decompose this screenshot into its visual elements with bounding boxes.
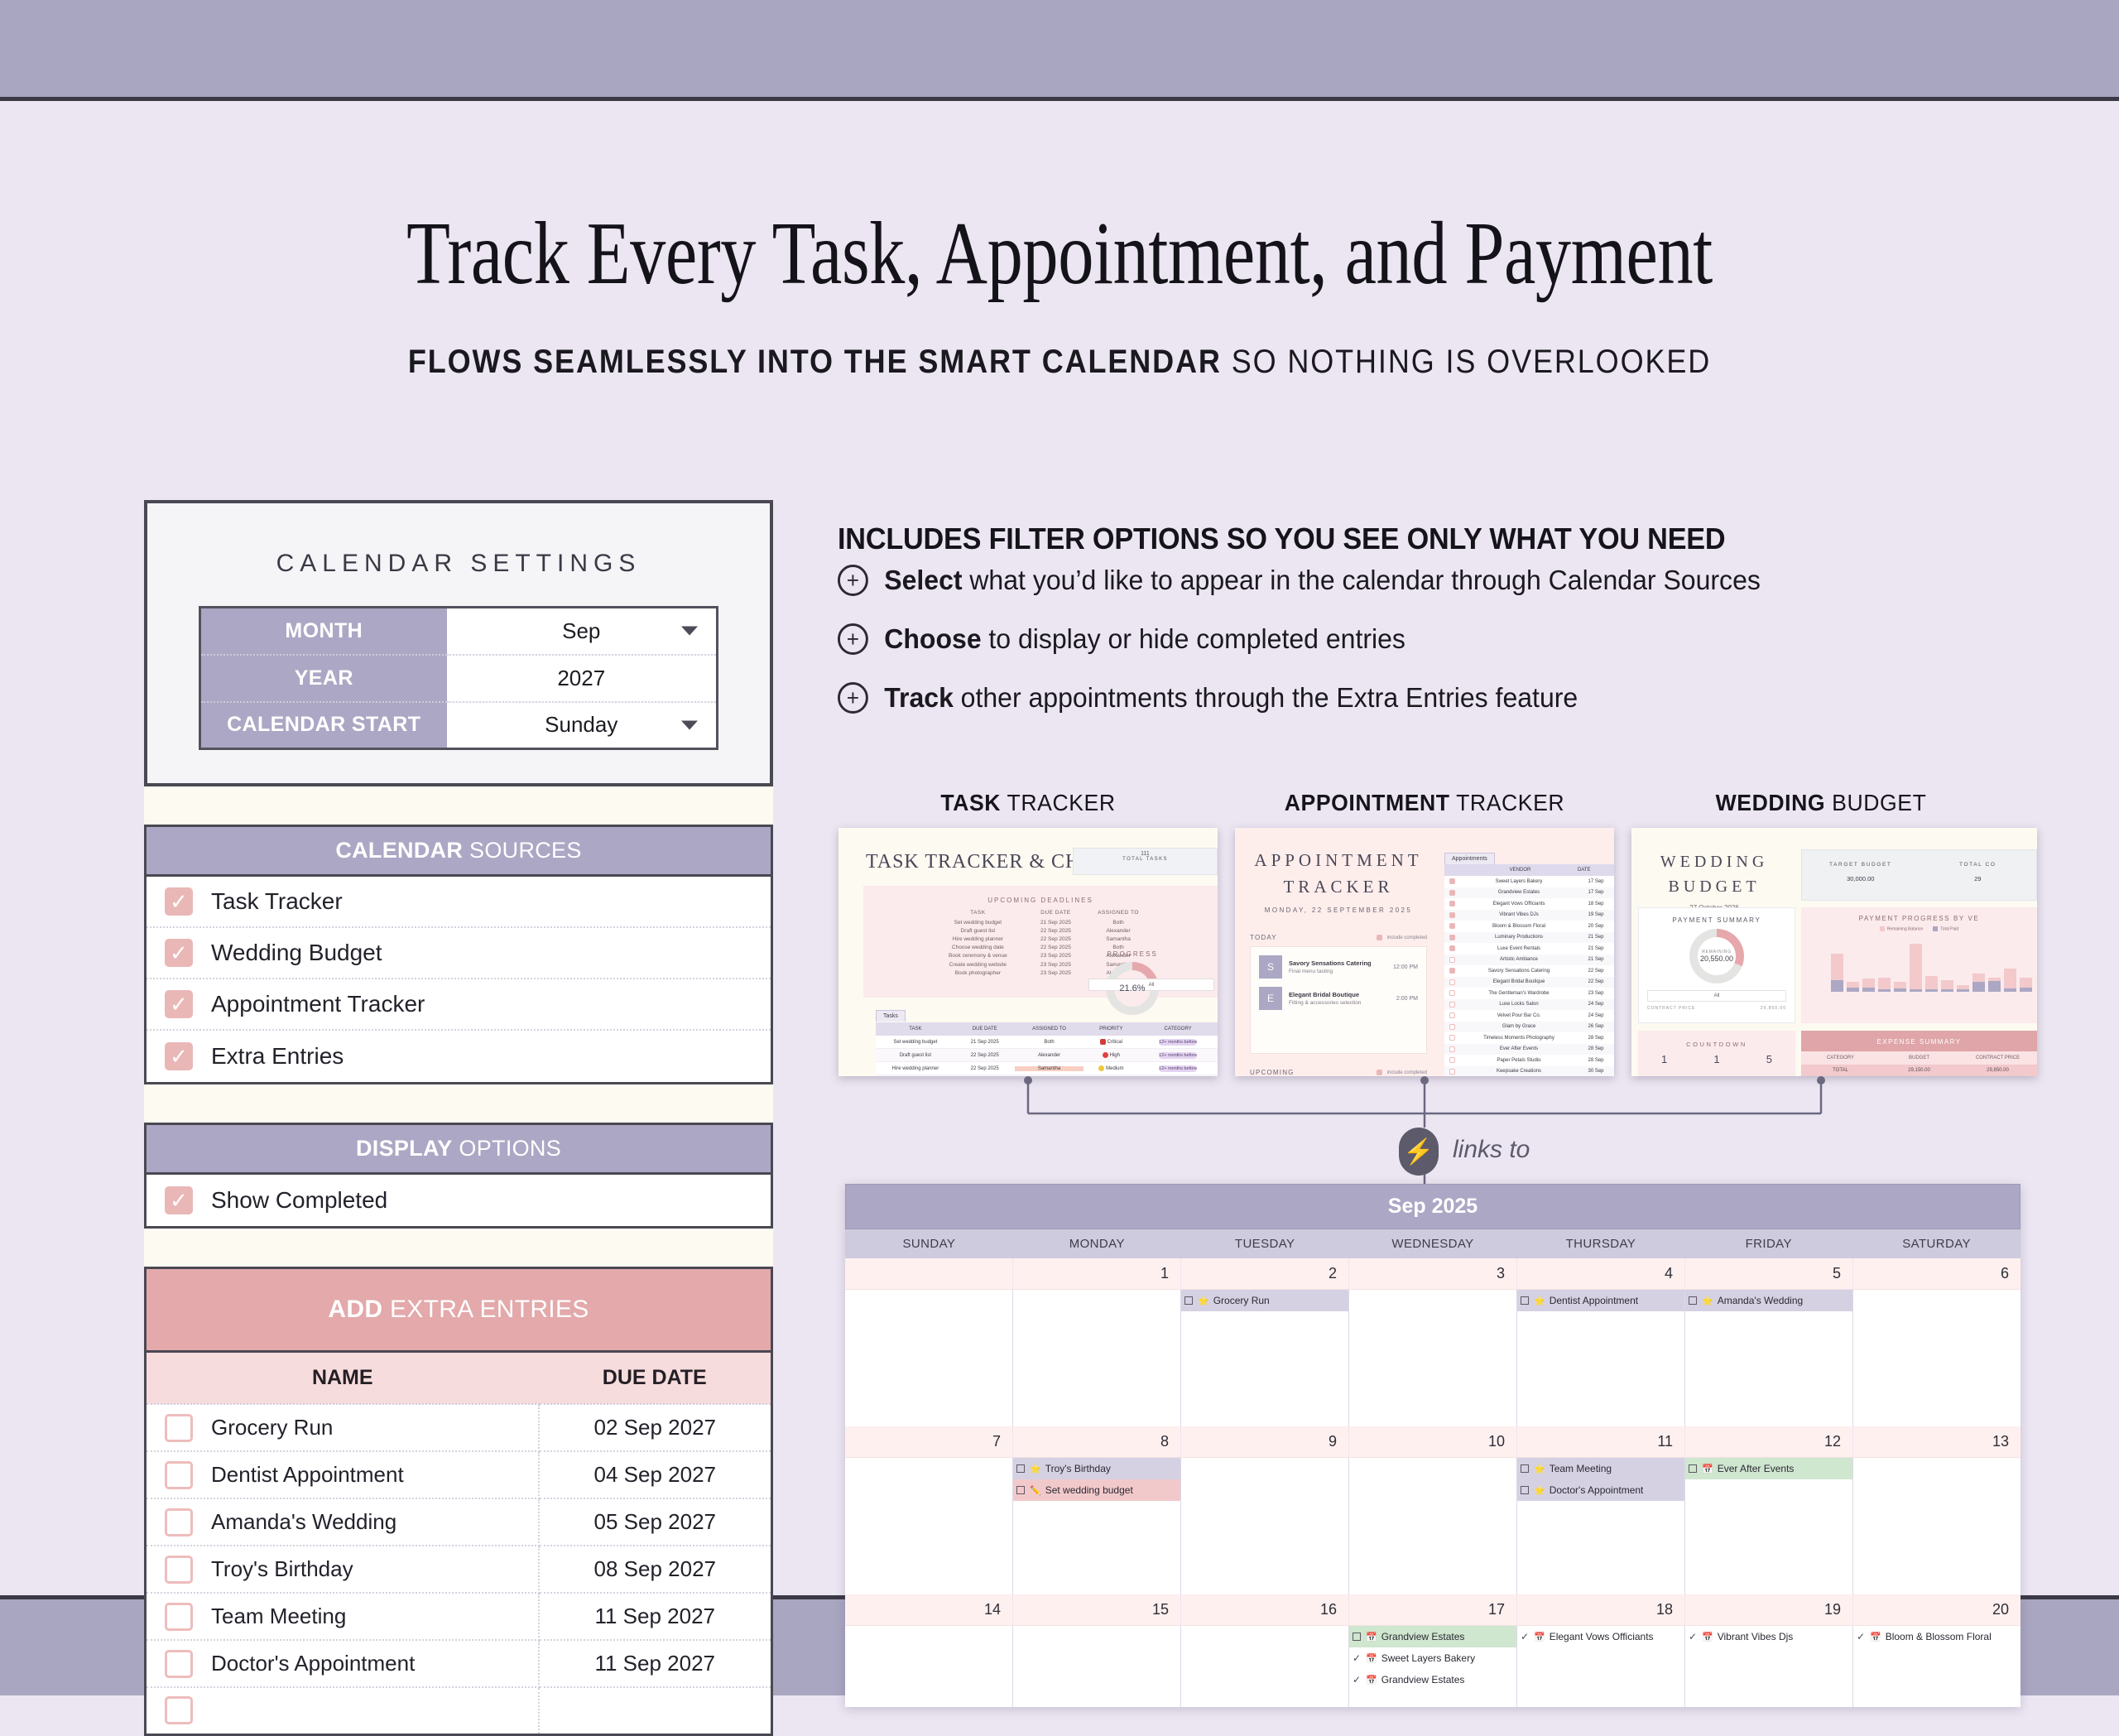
check-mark-icon[interactable]: ✓ bbox=[1857, 1631, 1865, 1642]
checkbox-checked-icon[interactable]: ✓ bbox=[165, 1042, 193, 1070]
task-row[interactable]: Hire wedding planner 22 Sep 2025 Samanth… bbox=[876, 1062, 1218, 1075]
tasks-grid: TASK DUE DATE ASSIGNED TO PRIORITY CATEG… bbox=[876, 1022, 1218, 1076]
chevron-down-icon[interactable] bbox=[681, 720, 698, 729]
contract-price-row: CONTRACT PRICE 29,850.00 bbox=[1647, 1006, 1786, 1011]
settings-value-year[interactable]: 2027 bbox=[447, 655, 718, 702]
calendar-week-body: 📅Grandview Estates✓📅Sweet Layers Bakery✓… bbox=[845, 1626, 2020, 1707]
checkbox-checked-icon[interactable] bbox=[1449, 912, 1455, 918]
source-label: Task Tracker bbox=[211, 888, 343, 915]
appointment-date: 20 Sep bbox=[1578, 924, 1614, 929]
calendar-settings-table: MONTH Sep YEAR 2027 CALENDAR START Sunda… bbox=[199, 606, 718, 750]
vendor-name: Ever After Events bbox=[1460, 1046, 1578, 1051]
chart-legend: Remaining Balance Total Paid bbox=[1801, 926, 2037, 931]
plus-circle-icon: + bbox=[838, 682, 868, 714]
panel-spacer bbox=[144, 1084, 773, 1123]
countdown-values: 1 1 5 bbox=[1638, 1053, 1795, 1065]
star-icon: ⭐ bbox=[1534, 1464, 1545, 1474]
cal2-icon: 📅 bbox=[1702, 1632, 1713, 1642]
source-item-task-tracker[interactable]: ✓ Task Tracker bbox=[147, 877, 771, 928]
calendar-event[interactable]: ⭐Troy's Birthday bbox=[1013, 1458, 1180, 1479]
vendor-name: The Gentleman's Wardrobe bbox=[1460, 991, 1578, 996]
calendar-date-number: 9 bbox=[1181, 1426, 1349, 1457]
entry-due-date[interactable] bbox=[539, 1687, 772, 1734]
calendar-event[interactable]: 📅Grandview Estates bbox=[1349, 1626, 1516, 1647]
day-header-saturday: SATURDAY bbox=[1852, 1229, 2020, 1258]
appointment-time: 12:00 PM bbox=[1393, 964, 1418, 970]
contract-price-label: CONTRACT PRICE bbox=[1647, 1006, 1695, 1011]
checkbox-unchecked-icon[interactable] bbox=[1449, 1012, 1455, 1018]
payment-donut-chart: REMAINING 20,550.00 bbox=[1689, 929, 1744, 983]
appointment-desc: Fitting & accessories selection bbox=[1289, 1000, 1361, 1006]
preview-label-task-tracker: TASK TRACKER bbox=[848, 790, 1208, 816]
calendar-day-cell[interactable]: ✓📅Elegant Vows Officiants bbox=[1517, 1626, 1685, 1707]
col-priority: PRIORITY bbox=[1084, 1027, 1138, 1032]
checkbox-checked-icon[interactable]: ✓ bbox=[165, 939, 193, 967]
vendor-name: Grandview Estates bbox=[1460, 890, 1578, 895]
upcoming-label: UPCOMING bbox=[1250, 1069, 1295, 1076]
calendar-date-number: 5 bbox=[1685, 1258, 1853, 1289]
col-category: CATEGORY bbox=[1138, 1027, 1218, 1032]
kpi-label: TOTAL TASKS bbox=[1074, 857, 1217, 862]
deadline-row: Draft guest list22 Sep 2025Alexander bbox=[927, 926, 1155, 935]
calendar-day-cell[interactable]: ⭐Troy's Birthday✏️Set wedding budget bbox=[1013, 1458, 1181, 1594]
appointment-grid-row[interactable]: Grandview Estates17 Sep bbox=[1444, 887, 1614, 899]
day-header-friday: FRIDAY bbox=[1684, 1229, 1852, 1258]
checkbox-checked-icon[interactable] bbox=[1449, 878, 1455, 884]
appointments-sheet-tab[interactable]: Appointments bbox=[1444, 853, 1495, 864]
calendar-day-cell[interactable]: 📅Ever After Events bbox=[1685, 1458, 1853, 1594]
checkbox-unchecked-icon[interactable] bbox=[1521, 1486, 1529, 1494]
appointment-grid-row[interactable]: Bloom & Blossom Floral20 Sep bbox=[1444, 921, 1614, 932]
checkbox-unchecked-icon[interactable] bbox=[165, 1414, 193, 1442]
appointment-grid-row[interactable]: Vibrant Vibes DJs19 Sep bbox=[1444, 910, 1614, 921]
appointment-date: 22 Sep bbox=[1578, 979, 1614, 984]
source-item-extra-entries[interactable]: ✓ Extra Entries bbox=[147, 1031, 771, 1082]
appointment-date: 28 Sep bbox=[1578, 1036, 1614, 1041]
calendar-event[interactable]: ✓📅Elegant Vows Officiants bbox=[1517, 1626, 1684, 1647]
calendar-date-number: 4 bbox=[1517, 1258, 1685, 1289]
checkbox-unchecked-icon[interactable] bbox=[1184, 1296, 1193, 1305]
appointment-date: 17 Sep bbox=[1578, 890, 1614, 895]
calendar-day-cell[interactable]: ✓📅Bloom & Blossom Floral bbox=[1853, 1626, 2020, 1707]
entry-due-date[interactable]: 11 Sep 2027 bbox=[539, 1640, 772, 1687]
calendar-date-number: 8 bbox=[1013, 1426, 1181, 1457]
checkbox-unchecked-icon[interactable] bbox=[1449, 1002, 1455, 1007]
countdown-digit: 5 bbox=[1766, 1053, 1772, 1065]
checkbox-unchecked-icon[interactable] bbox=[165, 1556, 193, 1584]
check-mark-icon[interactable]: ✓ bbox=[1353, 1674, 1361, 1686]
vendor-name: Velvet Pour Bar Co. bbox=[1460, 1013, 1578, 1018]
appointment-tracker-date: MONDAY, 22 SEPTEMBER 2025 bbox=[1235, 906, 1442, 914]
day-header-sunday: SUNDAY bbox=[845, 1229, 1013, 1258]
calendar-month-label: Sep 2025 bbox=[845, 1184, 2020, 1229]
appointment-date: 21 Sep bbox=[1578, 957, 1614, 962]
calendar-day-headers: SUNDAY MONDAY TUESDAY WEDNESDAY THURSDAY… bbox=[845, 1229, 2020, 1258]
calendar-day-cell[interactable]: ✓📅Vibrant Vibes Djs bbox=[1685, 1626, 1853, 1707]
appointment-date: 28 Sep bbox=[1578, 1046, 1614, 1051]
entry-due-date[interactable]: 05 Sep 2027 bbox=[539, 1498, 772, 1546]
calendar-event-label: Grandview Estates bbox=[1381, 1631, 1465, 1642]
vendor-name: Artistic Ambiance bbox=[1460, 957, 1578, 962]
expense-summary-title: EXPENSE SUMMARY bbox=[1801, 1031, 2037, 1046]
calendar-event-label: Vibrant Vibes Djs bbox=[1718, 1631, 1794, 1642]
star-icon: ⭐ bbox=[1702, 1296, 1713, 1306]
countdown-digit: 1 bbox=[1713, 1053, 1719, 1065]
bullet-lead: Select bbox=[884, 565, 962, 596]
calendar-settings-title: CALENDAR SETTINGS bbox=[147, 531, 770, 606]
display-options-header: DISPLAY OPTIONS bbox=[144, 1123, 773, 1175]
preview-card-wedding-budget[interactable]: WEDDING BUDGET 27 October 2026 TARGET BU… bbox=[1631, 828, 2037, 1076]
appointment-date: 22 Sep bbox=[1578, 969, 1614, 974]
calendar-date-number: 1 bbox=[1013, 1258, 1181, 1289]
calendar-week-body: ⭐Troy's Birthday✏️Set wedding budget⭐Tea… bbox=[845, 1458, 2020, 1594]
checkbox-unchecked-icon[interactable] bbox=[1449, 1024, 1455, 1030]
calendar-week: 123456⭐Grocery Run⭐Dentist Appointment⭐A… bbox=[845, 1258, 2020, 1426]
cal-icon: 📅 bbox=[1702, 1464, 1713, 1474]
month-select-value: Sep bbox=[562, 618, 600, 643]
label-light: BUDGET bbox=[1825, 790, 1926, 815]
calendar-event-label: Amanda's Wedding bbox=[1718, 1295, 1803, 1306]
display-option-label: Show Completed bbox=[211, 1187, 387, 1214]
col-contract-price: CONTRACT PRICE bbox=[1958, 1056, 2037, 1060]
calendar-event[interactable]: ⭐Dentist Appointment bbox=[1517, 1290, 1684, 1311]
chart-title: PAYMENT PROGRESS BY VE bbox=[1801, 915, 2037, 922]
appointment-grid-row[interactable]: Luxe Locks Salon24 Sep bbox=[1444, 999, 1614, 1011]
checkbox-checked-icon[interactable] bbox=[1449, 945, 1455, 951]
calendar-week: 78910111213⭐Troy's Birthday✏️Set wedding… bbox=[845, 1426, 2020, 1594]
calendar-day-cell[interactable] bbox=[845, 1290, 1013, 1426]
appointment-grid-row[interactable]: Velvet Pour Bar Co.24 Sep bbox=[1444, 1010, 1614, 1022]
progress-label: PROGRESS bbox=[1070, 950, 1194, 958]
display-option-show-completed[interactable]: ✓ Show Completed bbox=[147, 1175, 771, 1226]
tasks-sheet-tab[interactable]: Tasks bbox=[876, 1010, 906, 1022]
checkbox-unchecked-icon[interactable] bbox=[1689, 1464, 1697, 1473]
calendar-event[interactable]: 📅Ever After Events bbox=[1685, 1458, 1852, 1479]
check-mark-icon[interactable]: ✓ bbox=[1521, 1631, 1529, 1642]
entry-due-date[interactable]: 11 Sep 2027 bbox=[539, 1593, 772, 1640]
page-title: Track Every Task, Appointment, and Payme… bbox=[212, 207, 1907, 301]
appointment-item[interactable]: S Savory Sensations Catering Final menu … bbox=[1259, 955, 1418, 979]
calendar-event-label: Elegant Vows Officiants bbox=[1550, 1631, 1654, 1642]
appointments-grid: Appointments VENDOR DATE Sweet Layers Ba… bbox=[1444, 849, 1614, 1076]
entry-name: Grocery Run bbox=[211, 1415, 333, 1440]
vendor-name: Paper Petals Studio bbox=[1460, 1058, 1578, 1063]
calendar-event-label: Dentist Appointment bbox=[1550, 1295, 1638, 1306]
calendar-day-cell[interactable] bbox=[845, 1626, 1013, 1707]
checkbox-unchecked-icon[interactable] bbox=[165, 1696, 193, 1724]
calendar-event-label: Set wedding budget bbox=[1045, 1484, 1133, 1496]
vendor-name: Sweet Layers Bakery bbox=[1460, 879, 1578, 884]
table-row: Dentist Appointment 04 Sep 2027 bbox=[146, 1451, 772, 1498]
table-row: Amanda's Wedding 05 Sep 2027 bbox=[146, 1498, 772, 1546]
calendar-event[interactable]: ✓📅Grandview Estates bbox=[1349, 1669, 1516, 1690]
appointment-date: 19 Sep bbox=[1578, 912, 1614, 917]
calendar-day-cell[interactable] bbox=[1349, 1458, 1517, 1594]
settings-sidebar: CALENDAR SETTINGS MONTH Sep YEAR 2027 CA… bbox=[144, 500, 773, 1736]
vendor-name: Vibrant Vibes DJs bbox=[1460, 912, 1578, 917]
links-to-label: links to bbox=[1453, 1136, 1530, 1164]
filters-heading: INCLUDES FILTER OPTIONS SO YOU SEE ONLY … bbox=[838, 522, 1725, 556]
settings-label-month: MONTH bbox=[200, 608, 447, 655]
check-mark-icon[interactable]: ✓ bbox=[1689, 1631, 1697, 1642]
calendar-date-number: 14 bbox=[845, 1594, 1013, 1625]
calendar-date-number: 6 bbox=[1853, 1258, 2020, 1289]
expense-columns: CATEGORY BUDGET CONTRACT PRICE bbox=[1801, 1051, 2037, 1065]
appointment-grid-row[interactable]: Ever After Events28 Sep bbox=[1444, 1044, 1614, 1056]
calendar-day-cell[interactable] bbox=[1349, 1290, 1517, 1426]
calendar-week: 14151617181920📅Grandview Estates✓📅Sweet … bbox=[845, 1594, 2020, 1707]
calendar-date-number: 7 bbox=[845, 1426, 1013, 1457]
calendar-day-cell[interactable]: ⭐Amanda's Wedding bbox=[1685, 1290, 1853, 1426]
calendar-day-cell[interactable] bbox=[845, 1458, 1013, 1594]
countdown-card: COUNTDOWN 1 1 5 bbox=[1638, 1031, 1795, 1076]
col-task: TASK bbox=[876, 1027, 955, 1032]
panel-spacer bbox=[144, 786, 773, 825]
appointment-grid-row[interactable]: Sweet Layers Bakery17 Sep bbox=[1444, 876, 1614, 887]
day-header-thursday: THURSDAY bbox=[1516, 1229, 1684, 1258]
appointment-grid-row[interactable]: Savory Sensations Catering22 Sep bbox=[1444, 965, 1614, 977]
appointment-date: 18 Sep bbox=[1578, 902, 1614, 906]
checkbox-unchecked-icon[interactable] bbox=[1449, 990, 1455, 996]
checkbox-unchecked-icon[interactable] bbox=[1521, 1464, 1529, 1473]
calendar-start-select-value: Sunday bbox=[545, 712, 617, 737]
calendar-day-cell[interactable]: 📅Grandview Estates✓📅Sweet Layers Bakery✓… bbox=[1349, 1626, 1517, 1707]
calendar-date-number: 13 bbox=[1853, 1426, 2020, 1457]
calendar-event-label: Troy's Birthday bbox=[1045, 1463, 1111, 1474]
appointment-name: Savory Sensations Catering bbox=[1289, 959, 1372, 967]
checkbox-unchecked-icon[interactable] bbox=[1689, 1296, 1697, 1305]
calendar-event-label: Sweet Layers Bakery bbox=[1381, 1652, 1475, 1664]
checkbox-checked-icon[interactable] bbox=[1449, 935, 1455, 940]
checkbox-checked-icon[interactable] bbox=[1449, 890, 1455, 896]
calendar-date-number bbox=[845, 1258, 1013, 1289]
calendar-event[interactable]: ⭐Doctor's Appointment bbox=[1517, 1479, 1684, 1501]
appointment-grid-row[interactable]: Keepsake Creations30 Sep bbox=[1444, 1066, 1614, 1077]
subtitle-bold: FLOWS SEAMLESSLY INTO THE SMART CALENDAR bbox=[408, 344, 1222, 380]
calendar-event-label: Grandview Estates bbox=[1381, 1674, 1465, 1686]
checkbox-unchecked-icon[interactable] bbox=[1449, 1057, 1455, 1063]
checkbox-unchecked-icon[interactable] bbox=[1449, 1046, 1455, 1052]
calendar-date-number: 19 bbox=[1685, 1594, 1853, 1625]
calendar-date-row: 123456 bbox=[845, 1258, 2020, 1290]
preview-label-appointment-tracker: APPOINTMENT TRACKER bbox=[1244, 790, 1604, 816]
bullet-lead: Choose bbox=[884, 623, 981, 655]
chevron-down-icon[interactable] bbox=[681, 627, 698, 636]
display-options-list: ✓ Show Completed bbox=[144, 1175, 773, 1229]
label-bold: APPOINTMENT bbox=[1285, 790, 1450, 815]
include-completed-checkbox[interactable] bbox=[1377, 935, 1382, 940]
calendar-day-cell[interactable] bbox=[1853, 1458, 2020, 1594]
deadline-row: Set wedding budget21 Sep 2025Both bbox=[927, 918, 1155, 926]
deadlines-title: UPCOMING DEADLINES bbox=[863, 897, 1218, 904]
checkbox-unchecked-icon[interactable] bbox=[165, 1603, 193, 1631]
calendar-week-body: ⭐Grocery Run⭐Dentist Appointment⭐Amanda'… bbox=[845, 1290, 2020, 1426]
monthly-calendar: Sep 2025 SUNDAY MONDAY TUESDAY WEDNESDAY… bbox=[845, 1184, 2020, 1707]
calendar-day-cell[interactable]: ⭐Grocery Run bbox=[1181, 1290, 1349, 1426]
calendar-event[interactable]: ⭐Amanda's Wedding bbox=[1685, 1290, 1852, 1311]
include-completed-label: include completed bbox=[1387, 1070, 1427, 1075]
link-bolt-icon: ⚡ bbox=[1399, 1128, 1439, 1176]
checkbox-unchecked-icon[interactable] bbox=[1521, 1296, 1529, 1305]
calendar-event[interactable]: ✓📅Bloom & Blossom Floral bbox=[1853, 1626, 2020, 1647]
plus-circle-icon: + bbox=[838, 623, 868, 655]
entry-name: Troy's Birthday bbox=[211, 1556, 353, 1582]
preview-card-task-tracker[interactable]: TASK TRACKER & CHECKLIST 111 TOTAL TASKS… bbox=[838, 828, 1218, 1076]
calendar-day-cell[interactable]: ⭐Dentist Appointment bbox=[1517, 1290, 1685, 1426]
label-light: TRACKER bbox=[1450, 790, 1565, 815]
extra-entries-table: NAME DUE DATE Grocery Run 02 Sep 2027 De… bbox=[144, 1353, 773, 1736]
calendar-day-cell[interactable] bbox=[1013, 1626, 1181, 1707]
budget-kpi-row: TARGET BUDGET 30,000.00 TOTAL CO 29 bbox=[1801, 849, 2037, 901]
checkbox-unchecked-icon[interactable] bbox=[1449, 957, 1455, 963]
countdown-digit: 1 bbox=[1661, 1053, 1667, 1065]
checkbox-unchecked-icon[interactable] bbox=[1016, 1464, 1025, 1473]
extra-entries-header-row: NAME DUE DATE bbox=[146, 1353, 772, 1404]
appointment-grid-row[interactable]: Timeless Moments Photography28 Sep bbox=[1444, 1032, 1614, 1044]
cal-icon: 📅 bbox=[1366, 1632, 1377, 1642]
col-task: TASK bbox=[927, 910, 1030, 918]
checkbox-unchecked-icon[interactable] bbox=[1353, 1633, 1361, 1641]
calendar-event-label: Grocery Run bbox=[1213, 1295, 1270, 1306]
calendar-sources-header-bold: CALENDAR bbox=[335, 838, 463, 863]
calendar-event[interactable]: ⭐Grocery Run bbox=[1181, 1290, 1348, 1311]
calendar-event[interactable]: ⭐Team Meeting bbox=[1517, 1458, 1684, 1479]
checkbox-checked-icon[interactable] bbox=[1449, 923, 1455, 929]
day-header-monday: MONDAY bbox=[1013, 1229, 1181, 1258]
calendar-event-label: Bloom & Blossom Floral bbox=[1886, 1631, 1992, 1642]
star-icon: ⭐ bbox=[1198, 1296, 1209, 1306]
appointment-grid-row[interactable]: Glam by Grace26 Sep bbox=[1444, 1022, 1614, 1033]
checkbox-checked-icon[interactable]: ✓ bbox=[165, 1186, 193, 1214]
deadline-row: Hire wedding planner22 Sep 2025Samantha bbox=[927, 935, 1155, 943]
appointment-grid-row[interactable]: Luminary Productions21 Sep bbox=[1444, 932, 1614, 944]
calendar-day-cell[interactable] bbox=[1853, 1290, 2020, 1426]
checkbox-unchecked-icon[interactable] bbox=[1016, 1486, 1025, 1494]
settings-row-month: MONTH Sep bbox=[200, 608, 718, 655]
entry-due-date[interactable]: 04 Sep 2027 bbox=[539, 1451, 772, 1498]
calendar-day-cell[interactable] bbox=[1013, 1290, 1181, 1426]
appointment-name: Elegant Bridal Boutique bbox=[1289, 991, 1361, 998]
kpi-target-budget: TARGET BUDGET 30,000.00 bbox=[1802, 850, 1920, 900]
appointment-date: 28 Sep bbox=[1578, 1058, 1614, 1063]
bullet-rest: what you’d like to appear in the calenda… bbox=[969, 565, 1761, 596]
calendar-day-cell[interactable] bbox=[1181, 1626, 1349, 1707]
source-item-appointment-tracker[interactable]: ✓ Appointment Tracker bbox=[147, 979, 771, 1031]
display-options-header-bold: DISPLAY bbox=[356, 1136, 453, 1161]
appointment-date: 30 Sep bbox=[1578, 1069, 1614, 1074]
remaining-value: 20,550.00 bbox=[1700, 955, 1733, 963]
label-bold: WEDDING bbox=[1716, 790, 1826, 815]
calendar-day-cell[interactable] bbox=[1181, 1458, 1349, 1594]
calendar-date-number: 12 bbox=[1685, 1426, 1853, 1457]
calendar-event[interactable]: ✓📅Sweet Layers Bakery bbox=[1349, 1647, 1516, 1669]
appointment-grid-row[interactable]: Artistic Ambiance21 Sep bbox=[1444, 955, 1614, 966]
legend-remaining: Remaining Balance bbox=[1887, 926, 1923, 931]
checkbox-unchecked-icon[interactable] bbox=[1449, 1035, 1455, 1041]
preview-card-appointment-tracker[interactable]: APPOINTMENT TRACKER MONDAY, 22 SEPTEMBER… bbox=[1235, 828, 1614, 1076]
appointment-item[interactable]: E Elegant Bridal Boutique Fitting & acce… bbox=[1259, 987, 1418, 1010]
check-mark-icon[interactable]: ✓ bbox=[1353, 1652, 1361, 1664]
appointment-grid-row[interactable]: Luxe Event Rentals21 Sep bbox=[1444, 943, 1614, 955]
settings-row-year: YEAR 2027 bbox=[200, 655, 718, 702]
col-vendor: VENDOR bbox=[1463, 868, 1578, 873]
appointment-date: 26 Sep bbox=[1578, 1024, 1614, 1029]
countdown-label: COUNTDOWN bbox=[1638, 1041, 1795, 1048]
calendar-date-number: 2 bbox=[1181, 1258, 1349, 1289]
vendor-name: Luxe Locks Salon bbox=[1460, 1002, 1578, 1007]
checkbox-unchecked-icon[interactable] bbox=[165, 1461, 193, 1489]
task-row[interactable]: Draft guest list 22 Sep 2025 Alexander H… bbox=[876, 1049, 1218, 1062]
appointment-grid-row[interactable]: Elegant Bridal Boutique22 Sep bbox=[1444, 977, 1614, 988]
entry-due-date[interactable]: 08 Sep 2027 bbox=[539, 1546, 772, 1593]
checkbox-checked-icon[interactable]: ✓ bbox=[165, 887, 193, 916]
tasks-grid-header: TASK DUE DATE ASSIGNED TO PRIORITY CATEG… bbox=[876, 1022, 1218, 1036]
calendar-settings-card: CALENDAR SETTINGS MONTH Sep YEAR 2027 CA… bbox=[144, 500, 773, 786]
kpi-value: 111 bbox=[1074, 851, 1217, 857]
star-icon: ⭐ bbox=[1030, 1464, 1041, 1474]
calendar-date-number: 15 bbox=[1013, 1594, 1181, 1625]
calendar-date-row: 14151617181920 bbox=[845, 1594, 2020, 1626]
expense-summary: EXPENSE SUMMARY CATEGORY BUDGET CONTRACT… bbox=[1801, 1031, 2037, 1076]
task-filter-select[interactable]: All bbox=[1088, 979, 1214, 991]
entry-due-date[interactable]: 02 Sep 2027 bbox=[539, 1404, 772, 1451]
col-budget: BUDGET bbox=[1880, 1056, 1958, 1060]
bullet-lead: Track bbox=[884, 682, 954, 714]
source-item-wedding-budget[interactable]: ✓ Wedding Budget bbox=[147, 928, 771, 979]
vendor-name: Bloom & Blossom Floral bbox=[1460, 924, 1578, 929]
avatar: S bbox=[1259, 955, 1282, 979]
appointment-grid-row[interactable]: The Gentleman's Wardrobe23 Sep bbox=[1444, 988, 1614, 999]
calendar-sources-list: ✓ Task Tracker ✓ Wedding Budget ✓ Appoin… bbox=[144, 877, 773, 1084]
vendor-name: Keepsake Creations bbox=[1460, 1069, 1578, 1074]
budget-filter-select[interactable]: All bbox=[1647, 990, 1786, 1002]
avatar: E bbox=[1259, 987, 1282, 1010]
calendar-date-number: 3 bbox=[1349, 1258, 1517, 1289]
table-row: Team Meeting 11 Sep 2027 bbox=[146, 1593, 772, 1640]
calendar-event[interactable]: ✓📅Vibrant Vibes Djs bbox=[1685, 1626, 1852, 1647]
entry-name: Dentist Appointment bbox=[211, 1462, 404, 1488]
vendor-name: Elegant Vows Officiants bbox=[1460, 902, 1578, 906]
add-extra-entries-header: ADD EXTRA ENTRIES bbox=[144, 1267, 773, 1353]
task-row[interactable]: Set wedding budget 21 Sep 2025 Both Crit… bbox=[876, 1036, 1218, 1049]
checkbox-checked-icon[interactable]: ✓ bbox=[165, 990, 193, 1018]
appointment-grid-row[interactable]: Paper Petals Studio28 Sep bbox=[1444, 1055, 1614, 1066]
checkbox-unchecked-icon[interactable] bbox=[165, 1508, 193, 1536]
calendar-event[interactable]: ✏️Set wedding budget bbox=[1013, 1479, 1180, 1501]
checkbox-checked-icon[interactable] bbox=[1449, 901, 1455, 906]
cal2-icon: 📅 bbox=[1534, 1632, 1545, 1642]
checkbox-unchecked-icon[interactable] bbox=[165, 1650, 193, 1678]
appointment-grid-row[interactable]: Elegant Vows Officiants18 Sep bbox=[1444, 898, 1614, 910]
checkbox-unchecked-icon[interactable] bbox=[1449, 1069, 1455, 1075]
wedding-budget-title: WEDDING BUDGET bbox=[1631, 849, 1797, 899]
add-extra-entries-header-light: EXTRA ENTRIES bbox=[382, 1296, 589, 1323]
cal2-icon: 📅 bbox=[1366, 1653, 1377, 1664]
settings-value-calendar-start[interactable]: Sunday bbox=[447, 702, 718, 749]
checkbox-checked-icon[interactable] bbox=[1449, 968, 1455, 974]
settings-value-month[interactable]: Sep bbox=[447, 608, 718, 655]
payment-summary-label: PAYMENT SUMMARY bbox=[1639, 916, 1795, 924]
checkbox-unchecked-icon[interactable] bbox=[1449, 979, 1455, 985]
calendar-day-cell[interactable]: ⭐Team Meeting⭐Doctor's Appointment bbox=[1517, 1458, 1685, 1594]
vendor-name: Savory Sensations Catering bbox=[1460, 969, 1578, 974]
vendor-name: Luminary Productions bbox=[1460, 935, 1578, 940]
include-completed-checkbox[interactable] bbox=[1377, 1070, 1382, 1075]
task-tracker-kpi: 111 TOTAL TASKS bbox=[1073, 848, 1218, 875]
contract-price-value: 29,850.00 bbox=[1761, 1006, 1786, 1011]
appointment-date: 24 Sep bbox=[1578, 1013, 1614, 1018]
filter-bullet-choose: + Choose to display or hide completed en… bbox=[838, 623, 1405, 655]
